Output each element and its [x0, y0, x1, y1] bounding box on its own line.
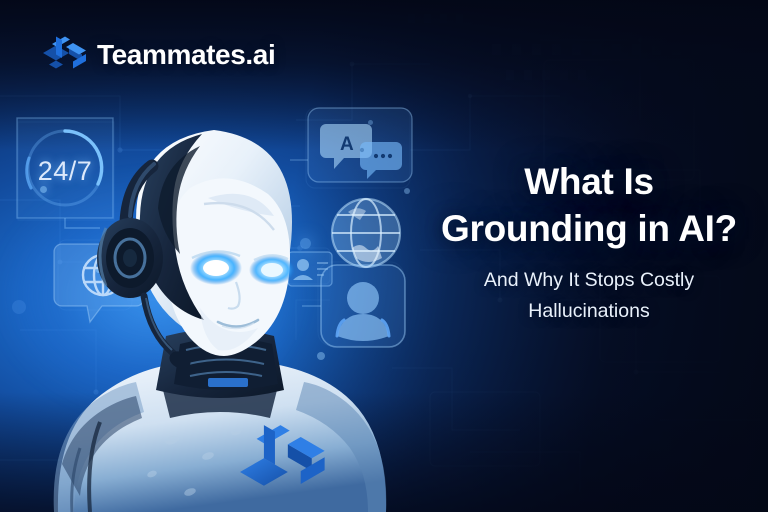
hero-copy: What Is Grounding in AI? And Why It Stop… [424, 158, 754, 327]
page-subtitle: And Why It Stops Costly Hallucinations [424, 265, 754, 327]
brand-logo[interactable]: Teammates.ai [40, 29, 275, 80]
subtitle-line-1: And Why It Stops Costly [484, 269, 694, 291]
hero-banner: 24/7 A [0, 0, 768, 512]
subtitle-line-2: Hallucinations [528, 300, 649, 322]
teammates-hex-logo-icon [40, 29, 86, 80]
headline-line-1: What Is [524, 161, 653, 202]
headline-line-2: Grounding in AI? [441, 208, 737, 249]
brand-wordmark: Teammates.ai [97, 39, 275, 71]
ai-robot-assistant [40, 92, 400, 512]
page-title: What Is Grounding in AI? [424, 158, 754, 252]
